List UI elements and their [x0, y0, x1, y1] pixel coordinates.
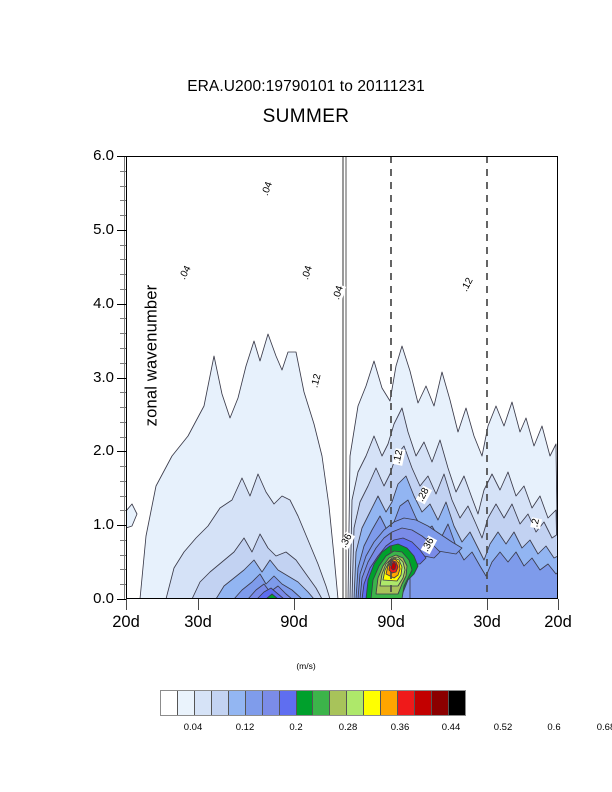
y-tick	[117, 599, 126, 600]
colorbar-cell-8[interactable]	[297, 691, 314, 715]
colorbar-cell-9[interactable]	[313, 691, 330, 715]
colorbar-cell-10[interactable]	[330, 691, 347, 715]
y-minor-tick	[120, 540, 126, 541]
x-tick-label: 20d	[513, 613, 603, 632]
colorbar-cell-1[interactable]	[178, 691, 195, 715]
colorbar[interactable]	[160, 690, 466, 716]
y-minor-tick	[120, 274, 126, 275]
y-minor-tick	[120, 496, 126, 497]
colorbar-cell-12[interactable]	[364, 691, 381, 715]
figure-page: ERA.U200:19790101 to 20111231 SUMMER	[0, 0, 612, 792]
y-minor-tick	[120, 245, 126, 246]
y-minor-tick	[120, 333, 126, 334]
y-tick-label: 5.0	[66, 221, 114, 238]
y-tick	[117, 525, 126, 526]
colorbar-tick-label: 0.68	[576, 722, 612, 733]
y-tick	[117, 156, 126, 157]
y-minor-tick	[120, 200, 126, 201]
y-minor-tick	[120, 569, 126, 570]
y-axis-label: zonal wavenumber	[143, 256, 162, 456]
y-tick	[117, 230, 126, 231]
colorbar-cell-0[interactable]	[161, 691, 178, 715]
y-minor-tick	[120, 348, 126, 349]
y-minor-tick	[120, 289, 126, 290]
y-minor-tick	[120, 481, 126, 482]
x-tick-label: 90d	[346, 613, 436, 632]
colorbar-cell-3[interactable]	[212, 691, 229, 715]
colorbar-cell-5[interactable]	[246, 691, 263, 715]
x-tick	[198, 599, 199, 610]
colorbar-cell-11[interactable]	[347, 691, 364, 715]
y-tick-label: 6.0	[66, 147, 114, 164]
page-title: ERA.U200:19790101 to 20111231	[0, 78, 612, 96]
y-tick-label: 0.0	[66, 590, 114, 607]
y-minor-tick	[120, 363, 126, 364]
colorbar-cell-14[interactable]	[398, 691, 415, 715]
colorbar-cell-7[interactable]	[280, 691, 297, 715]
colorbar-cell-4[interactable]	[229, 691, 246, 715]
y-tick-label: 4.0	[66, 295, 114, 312]
colorbar-tick-label: 0.44	[421, 722, 481, 733]
x-tick	[487, 599, 488, 610]
colorbar-cell-13[interactable]	[381, 691, 398, 715]
y-minor-tick	[120, 407, 126, 408]
y-tick-label: 1.0	[66, 516, 114, 533]
y-minor-tick	[120, 215, 126, 216]
x-tick-label: 30d	[153, 613, 243, 632]
x-tick-label: 90d	[249, 613, 339, 632]
plot-frame	[126, 156, 558, 599]
x-tick	[294, 599, 295, 610]
y-tick-label: 3.0	[66, 369, 114, 386]
colorbar-cell-2[interactable]	[195, 691, 212, 715]
x-tick	[558, 599, 559, 610]
y-minor-tick	[120, 171, 126, 172]
x-tick	[126, 599, 127, 610]
y-tick	[117, 451, 126, 452]
colorbar-cell-15[interactable]	[415, 691, 432, 715]
contour-plot: .04 .04 .04 .04 .12 .12 .12 .2 .28 .36 .…	[126, 156, 558, 599]
colorbar-cell-17[interactable]	[449, 691, 465, 715]
colorbar-tick-label: 0.28	[318, 722, 378, 733]
colorbar-tick-label: 0.04	[163, 722, 223, 733]
x-axis-ticks: 20d30d90d90d30d20d	[126, 599, 558, 639]
y-tick	[117, 304, 126, 305]
y-minor-tick	[120, 510, 126, 511]
y-tick	[117, 378, 126, 379]
colorbar-units-label: (m/s)	[0, 661, 612, 671]
y-minor-tick	[120, 422, 126, 423]
colorbar-cell-6[interactable]	[263, 691, 280, 715]
colorbar-tick-label: 0.2	[266, 722, 326, 733]
y-minor-tick	[120, 466, 126, 467]
x-tick	[391, 599, 392, 610]
y-minor-tick	[120, 392, 126, 393]
y-minor-tick	[120, 584, 126, 585]
y-minor-tick	[120, 259, 126, 260]
y-minor-tick	[120, 437, 126, 438]
y-tick-label: 2.0	[66, 442, 114, 459]
y-minor-tick	[120, 555, 126, 556]
y-minor-tick	[120, 186, 126, 187]
colorbar-cell-16[interactable]	[432, 691, 449, 715]
colorbar-tick-label: 0.6	[524, 722, 584, 733]
y-minor-tick	[120, 318, 126, 319]
page-subtitle: SUMMER	[0, 106, 612, 128]
